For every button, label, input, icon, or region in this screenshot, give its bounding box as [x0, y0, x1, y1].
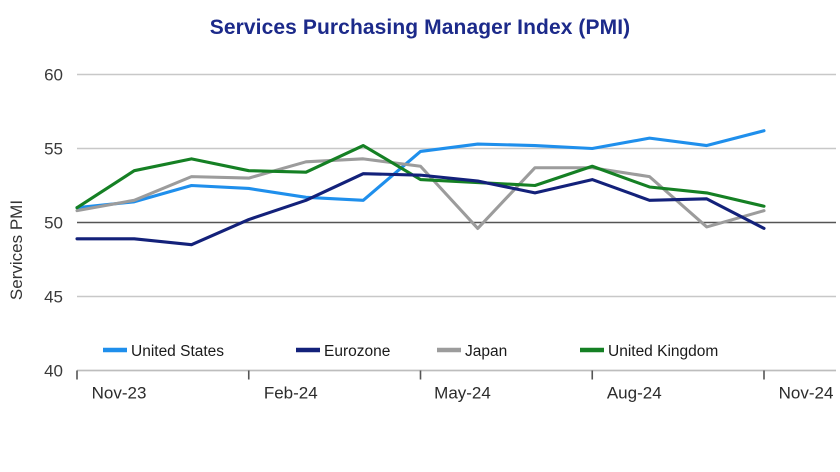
- x-axis-ticks: Nov-23Feb-24May-24Aug-24Nov-24: [77, 371, 833, 403]
- chart-container: Services Purchasing Manager Index (PMI) …: [0, 0, 840, 472]
- chart-plot-area: 4045505560 Nov-23Feb-24May-24Aug-24Nov-2…: [0, 0, 840, 472]
- x-tick-label: Aug-24: [607, 384, 662, 403]
- y-tick-label: 40: [44, 362, 63, 381]
- x-tick-label: Nov-23: [92, 384, 147, 403]
- y-tick-label: 50: [44, 214, 63, 233]
- y-axis-ticks: 4045505560: [44, 66, 63, 381]
- y-axis-title: Services PMI: [7, 200, 26, 300]
- y-tick-label: 45: [44, 288, 63, 307]
- legend-label-japan[interactable]: Japan: [465, 343, 507, 360]
- x-tick-label: May-24: [434, 384, 491, 403]
- legend-label-united-kingdom[interactable]: United Kingdom: [608, 343, 718, 360]
- x-tick-label: Feb-24: [264, 384, 318, 403]
- series-line-japan: [77, 159, 764, 229]
- y-tick-label: 55: [44, 140, 63, 159]
- series-line-eurozone: [77, 174, 764, 245]
- x-tick-label: Nov-24: [779, 384, 834, 403]
- y-tick-label: 60: [44, 66, 63, 85]
- legend-label-united-states[interactable]: United States: [131, 343, 224, 360]
- series-line-united-states: [77, 131, 764, 208]
- legend-label-eurozone[interactable]: Eurozone: [324, 343, 390, 360]
- chart-legend: United StatesEurozoneJapanUnited Kingdom: [103, 343, 718, 360]
